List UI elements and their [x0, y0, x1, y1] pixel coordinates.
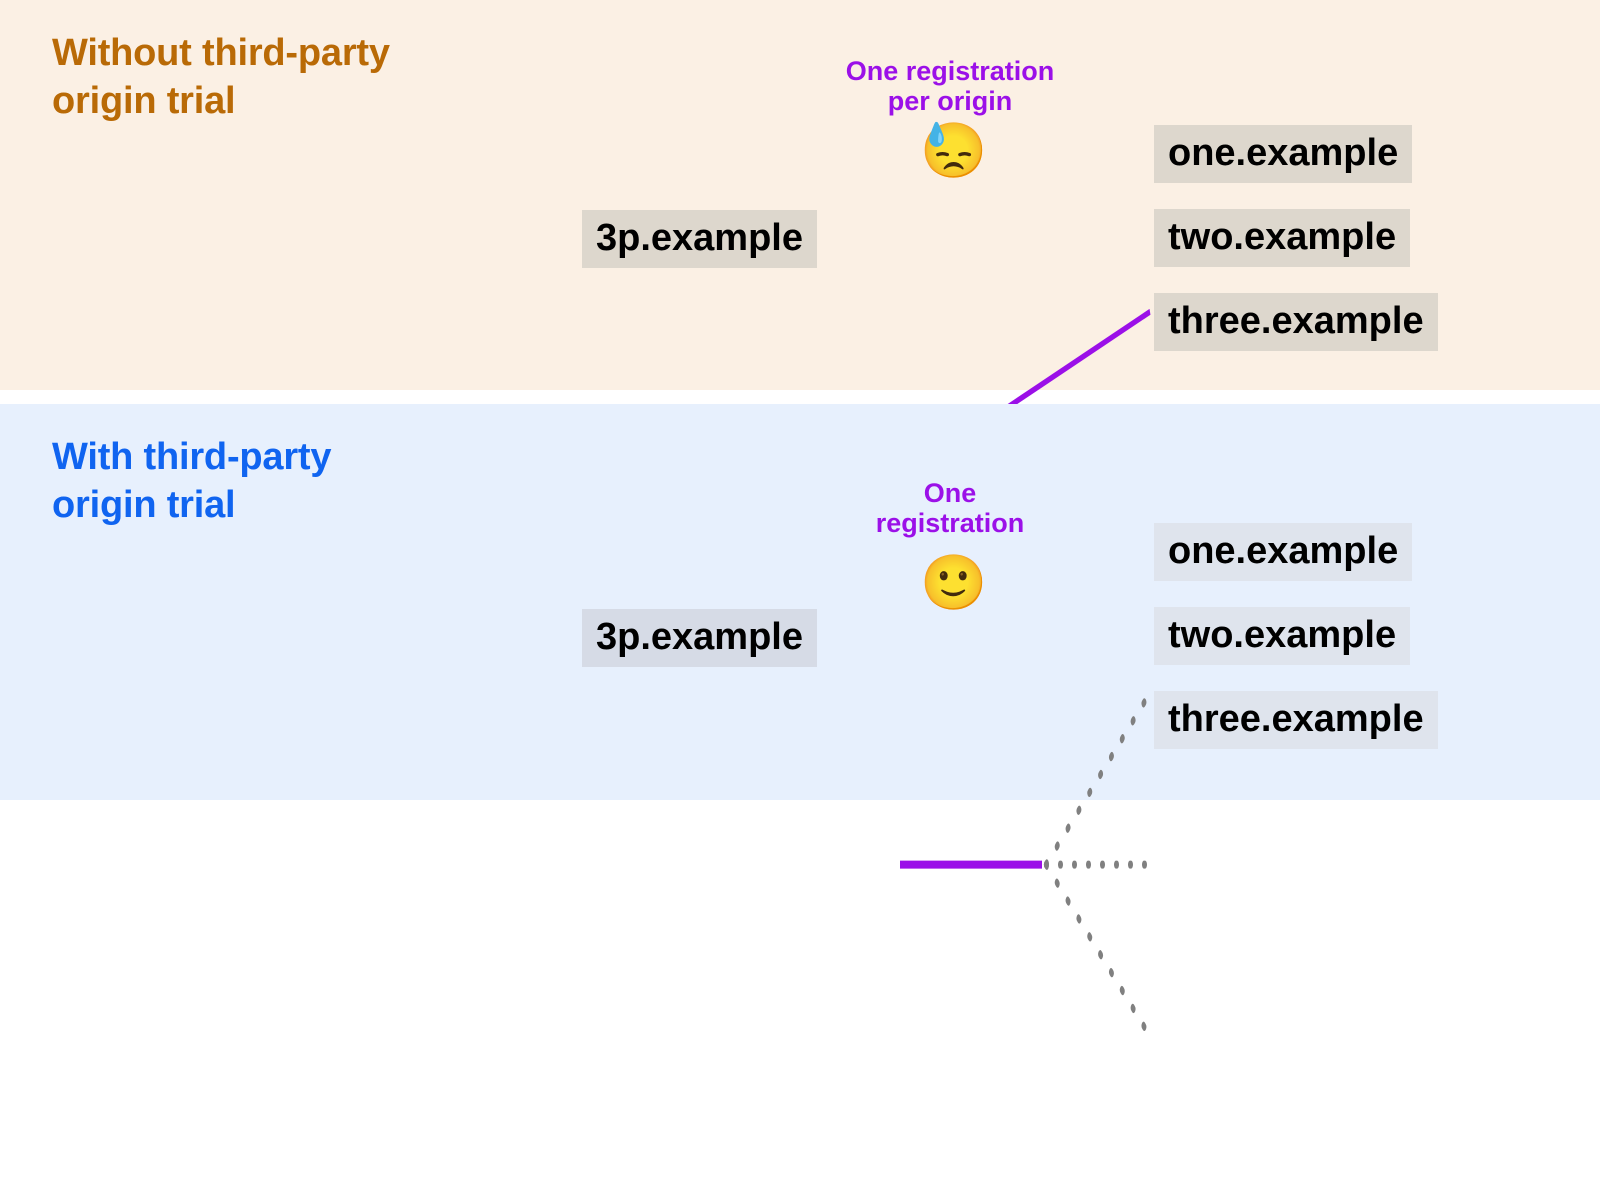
- node-target-one-example-without: one.example: [1154, 125, 1412, 183]
- node-target-two-example-without: two.example: [1154, 209, 1410, 267]
- section-without-third-party-origin-trial: Without third-party origin trial One reg…: [0, 0, 1600, 390]
- heading-with-third-party-origin-trial: With third-party origin trial: [52, 434, 331, 530]
- node-source-3p-example-with: 3p.example: [582, 609, 817, 667]
- node-target-two-example-with: two.example: [1154, 607, 1410, 665]
- node-target-three-example-without: three.example: [1154, 293, 1438, 351]
- callout-one-registration: One registration: [830, 478, 1070, 538]
- callout-one-registration-per-origin: One registration per origin: [790, 56, 1110, 116]
- node-target-three-example-with: three.example: [1154, 691, 1438, 749]
- downcast-face-with-sweat-icon: 😓: [920, 124, 987, 178]
- origin-trial-comparison-diagram: Without third-party origin trial One reg…: [0, 0, 1600, 800]
- heading-without-third-party-origin-trial: Without third-party origin trial: [52, 30, 390, 126]
- slightly-smiling-face-icon: 🙂: [920, 556, 987, 610]
- node-source-3p-example-without: 3p.example: [582, 210, 817, 268]
- node-target-one-example-with: one.example: [1154, 523, 1412, 581]
- section-with-third-party-origin-trial: With third-party origin trial One regist…: [0, 404, 1600, 800]
